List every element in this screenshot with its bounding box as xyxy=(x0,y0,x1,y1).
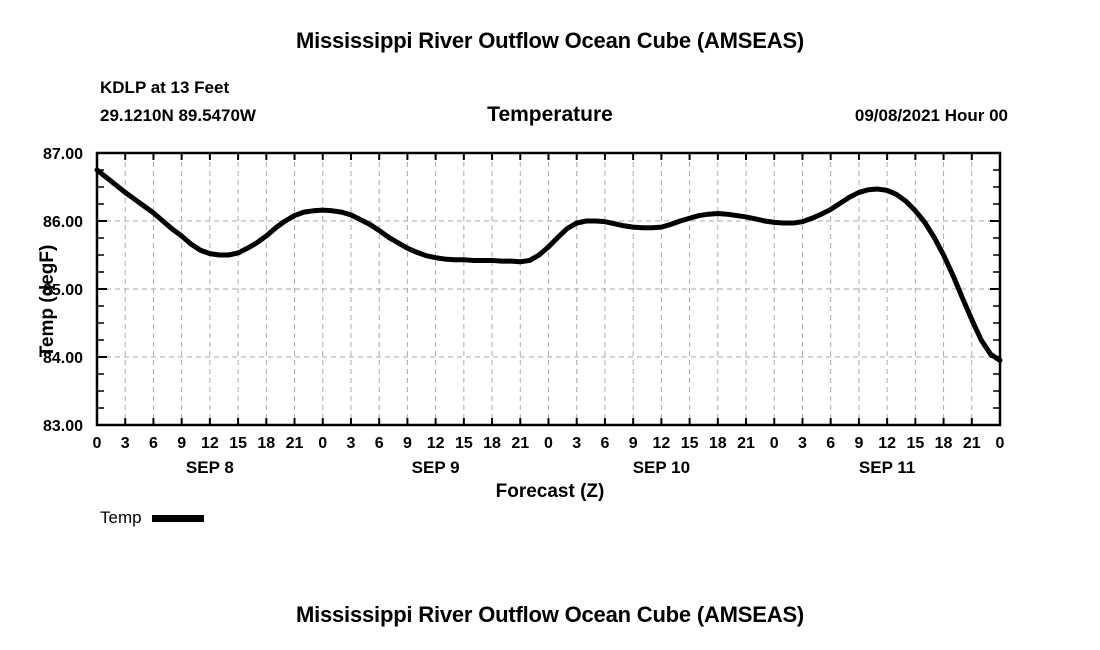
svg-text:12: 12 xyxy=(878,435,896,452)
svg-text:18: 18 xyxy=(257,435,275,452)
gridlines xyxy=(97,153,1000,425)
svg-text:0: 0 xyxy=(544,435,553,452)
svg-text:15: 15 xyxy=(681,435,699,452)
svg-text:6: 6 xyxy=(149,435,158,452)
svg-text:SEP 10: SEP 10 xyxy=(633,458,690,477)
svg-text:21: 21 xyxy=(963,435,981,452)
svg-text:18: 18 xyxy=(709,435,727,452)
svg-text:12: 12 xyxy=(201,435,219,452)
svg-text:83.00: 83.00 xyxy=(43,418,83,435)
svg-text:3: 3 xyxy=(572,435,581,452)
svg-text:18: 18 xyxy=(483,435,501,452)
svg-text:0: 0 xyxy=(318,435,327,452)
svg-text:9: 9 xyxy=(403,435,412,452)
chart-page: Mississippi River Outflow Ocean Cube (AM… xyxy=(0,0,1100,650)
svg-text:87.00: 87.00 xyxy=(43,146,83,163)
svg-text:3: 3 xyxy=(347,435,356,452)
svg-text:86.00: 86.00 xyxy=(43,214,83,231)
svg-text:6: 6 xyxy=(826,435,835,452)
svg-text:SEP 8: SEP 8 xyxy=(186,458,234,477)
legend-label-temp: Temp xyxy=(100,508,142,528)
svg-text:12: 12 xyxy=(652,435,670,452)
legend: Temp xyxy=(100,508,204,528)
svg-text:SEP 9: SEP 9 xyxy=(412,458,460,477)
temperature-line-chart: 87.0086.0085.0084.0083.00036912151821036… xyxy=(0,0,1100,480)
svg-text:0: 0 xyxy=(996,435,1005,452)
svg-text:15: 15 xyxy=(229,435,247,452)
svg-text:9: 9 xyxy=(629,435,638,452)
legend-swatch-temp xyxy=(152,515,204,522)
svg-text:6: 6 xyxy=(375,435,384,452)
svg-text:3: 3 xyxy=(798,435,807,452)
svg-text:0: 0 xyxy=(93,435,102,452)
svg-text:15: 15 xyxy=(906,435,924,452)
svg-text:3: 3 xyxy=(121,435,130,452)
svg-text:15: 15 xyxy=(455,435,473,452)
svg-text:18: 18 xyxy=(935,435,953,452)
svg-text:21: 21 xyxy=(737,435,755,452)
x-axis-label: Forecast (Z) xyxy=(0,481,1100,503)
axis-tick-labels: 87.0086.0085.0084.0083.00036912151821036… xyxy=(43,146,1005,477)
svg-text:0: 0 xyxy=(770,435,779,452)
svg-text:84.00: 84.00 xyxy=(43,350,83,367)
svg-text:6: 6 xyxy=(600,435,609,452)
svg-text:21: 21 xyxy=(511,435,529,452)
svg-text:12: 12 xyxy=(427,435,445,452)
svg-text:85.00: 85.00 xyxy=(43,282,83,299)
svg-text:21: 21 xyxy=(286,435,304,452)
svg-text:9: 9 xyxy=(177,435,186,452)
svg-text:SEP 11: SEP 11 xyxy=(859,458,915,477)
svg-text:9: 9 xyxy=(854,435,863,452)
footer-title: Mississippi River Outflow Ocean Cube (AM… xyxy=(0,602,1100,628)
